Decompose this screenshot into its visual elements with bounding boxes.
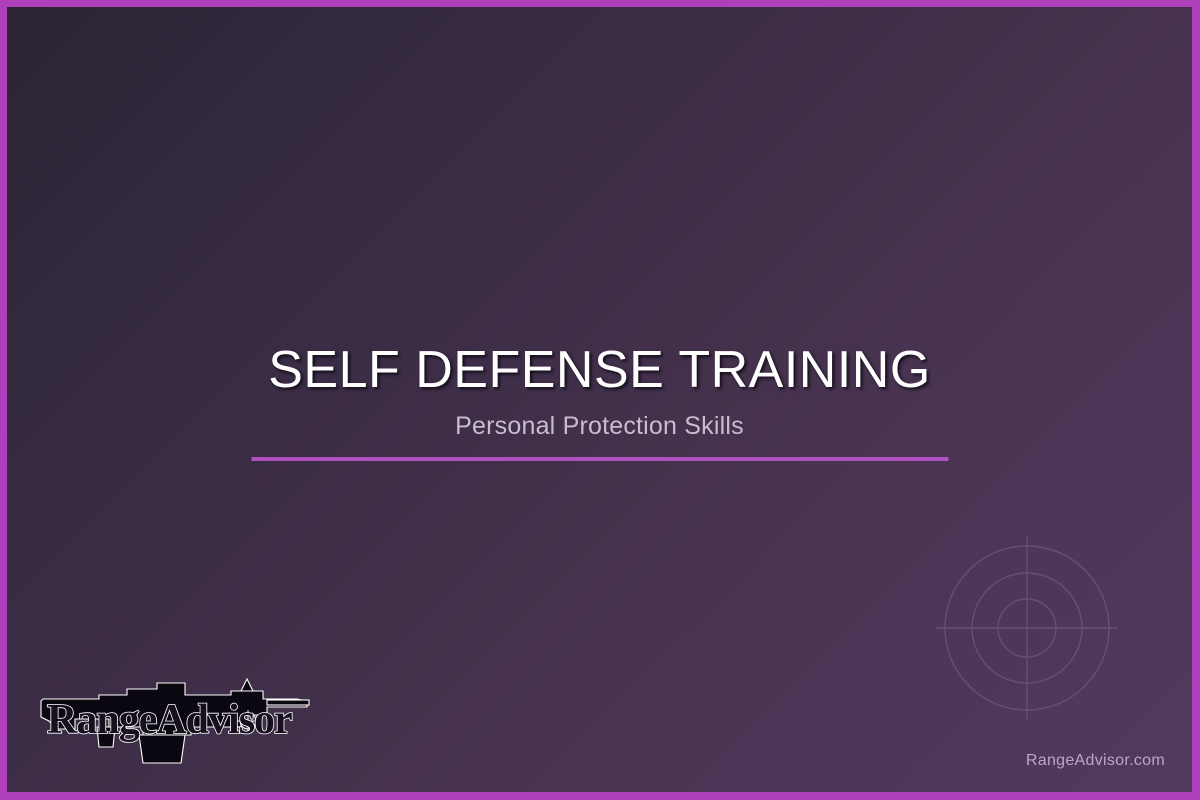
- brand-logo: RangeAdvisor: [35, 673, 315, 768]
- page-title: SELF DEFENSE TRAINING: [7, 343, 1192, 398]
- target-ring-outer: [945, 546, 1109, 710]
- slide-canvas: SELF DEFENSE TRAINING Personal Protectio…: [7, 7, 1192, 792]
- presentation-slide: SELF DEFENSE TRAINING Personal Protectio…: [0, 0, 1200, 800]
- brand-logo-svg: RangeAdvisor: [35, 673, 315, 768]
- title-block: SELF DEFENSE TRAINING Personal Protectio…: [7, 343, 1192, 441]
- page-subtitle: Personal Protection Skills: [7, 412, 1192, 441]
- crosshair-target-svg: [927, 528, 1127, 728]
- brand-logo-wordmark: RangeAdvisor: [47, 697, 292, 743]
- title-divider: [251, 457, 948, 461]
- target-ring-inner: [998, 599, 1056, 657]
- crosshair-target-icon: [927, 528, 1127, 728]
- site-credit: RangeAdvisor.com: [1026, 752, 1165, 770]
- target-ring-middle: [972, 573, 1082, 683]
